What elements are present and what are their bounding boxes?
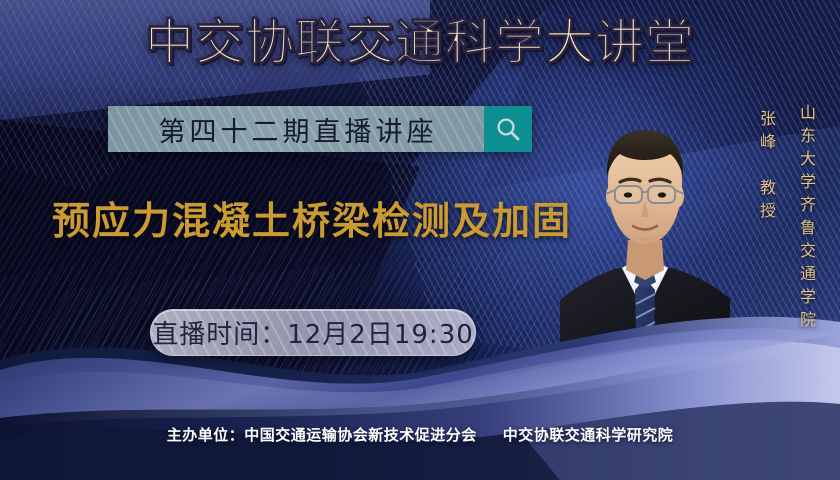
speaker-affiliation: 山东大学齐鲁交通学院 (794, 104, 818, 334)
episode-label: 第四十二期直播讲座 (155, 110, 438, 149)
page-title: 中交协联交通科学大讲堂 (0, 18, 840, 67)
lecture-headline: 预应力混凝土桥梁检测及加固 (52, 190, 572, 245)
footer-org-1: 中国交通运输协会新技术促进分会 (244, 426, 477, 444)
footer-organizers: 主办单位：中国交通运输协会新技术促进分会中交协联交通科学研究院 (0, 424, 840, 445)
broadcast-time-badge: 直播时间：12月2日19:30 (150, 309, 476, 356)
webinar-poster: 中交协联交通科学大讲堂 第四十二期直播讲座 预应力混凝土桥梁检测及加固 直播时间… (0, 0, 840, 480)
speaker-name: 张峰 教授 (754, 110, 778, 225)
episode-banner: 第四十二期直播讲座 (108, 106, 532, 152)
broadcast-time-text: 直播时间：12月2日19:30 (152, 314, 474, 351)
footer-org-2: 中交协联交通科学研究院 (503, 426, 674, 444)
footer-label: 主办单位： (167, 426, 245, 444)
search-icon[interactable] (484, 106, 532, 152)
episode-banner-body: 第四十二期直播讲座 (108, 106, 484, 152)
